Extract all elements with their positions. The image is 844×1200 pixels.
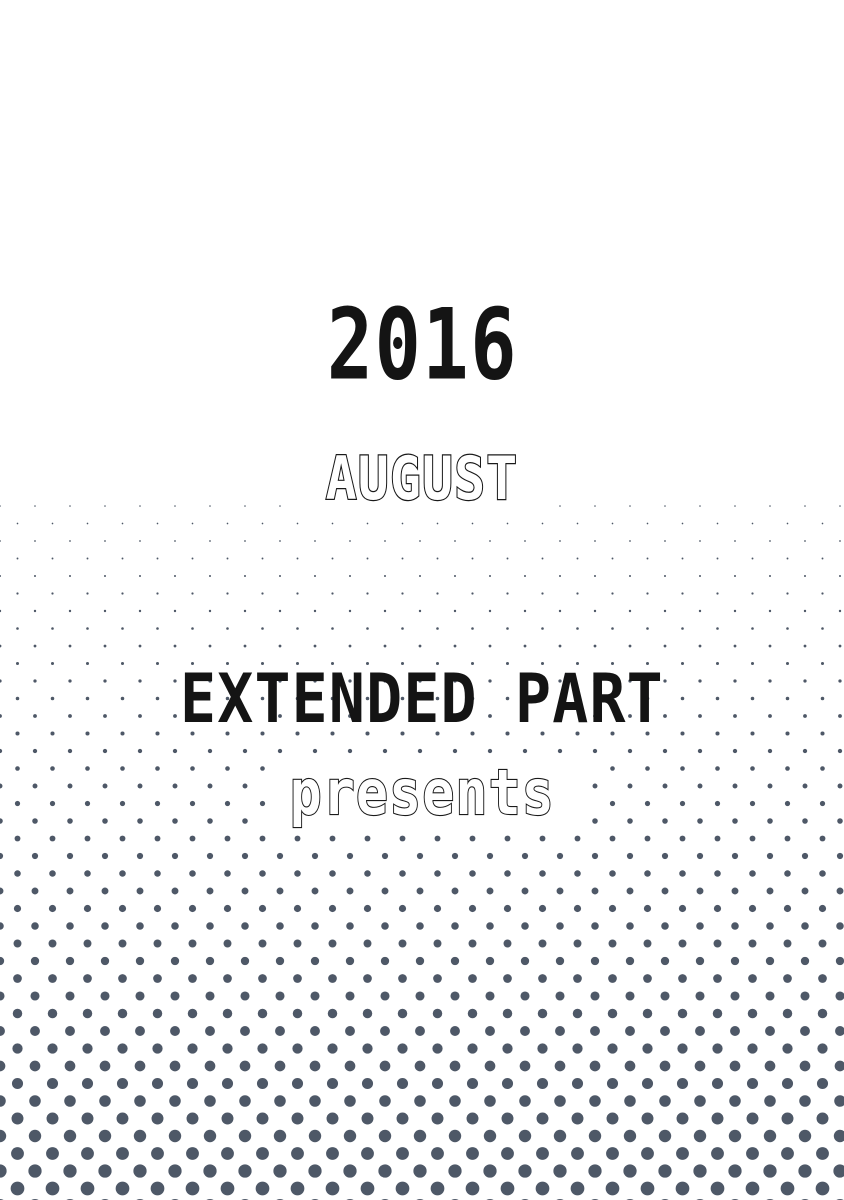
month-text: AUGUST [326, 449, 519, 509]
year-line: 2016 [0, 296, 844, 392]
presents-line: presents [0, 762, 844, 824]
studio-name-text: EXTENDED PART [180, 666, 664, 734]
month-line: AUGUST [0, 449, 844, 509]
poster-canvas: 2016 AUGUST EXTENDED PART presents [0, 0, 844, 1200]
halftone-dot-field [0, 0, 844, 1200]
studio-line: EXTENDED PART [0, 666, 844, 734]
year-text: 2016 [326, 296, 517, 394]
presents-text: presents [289, 762, 554, 824]
